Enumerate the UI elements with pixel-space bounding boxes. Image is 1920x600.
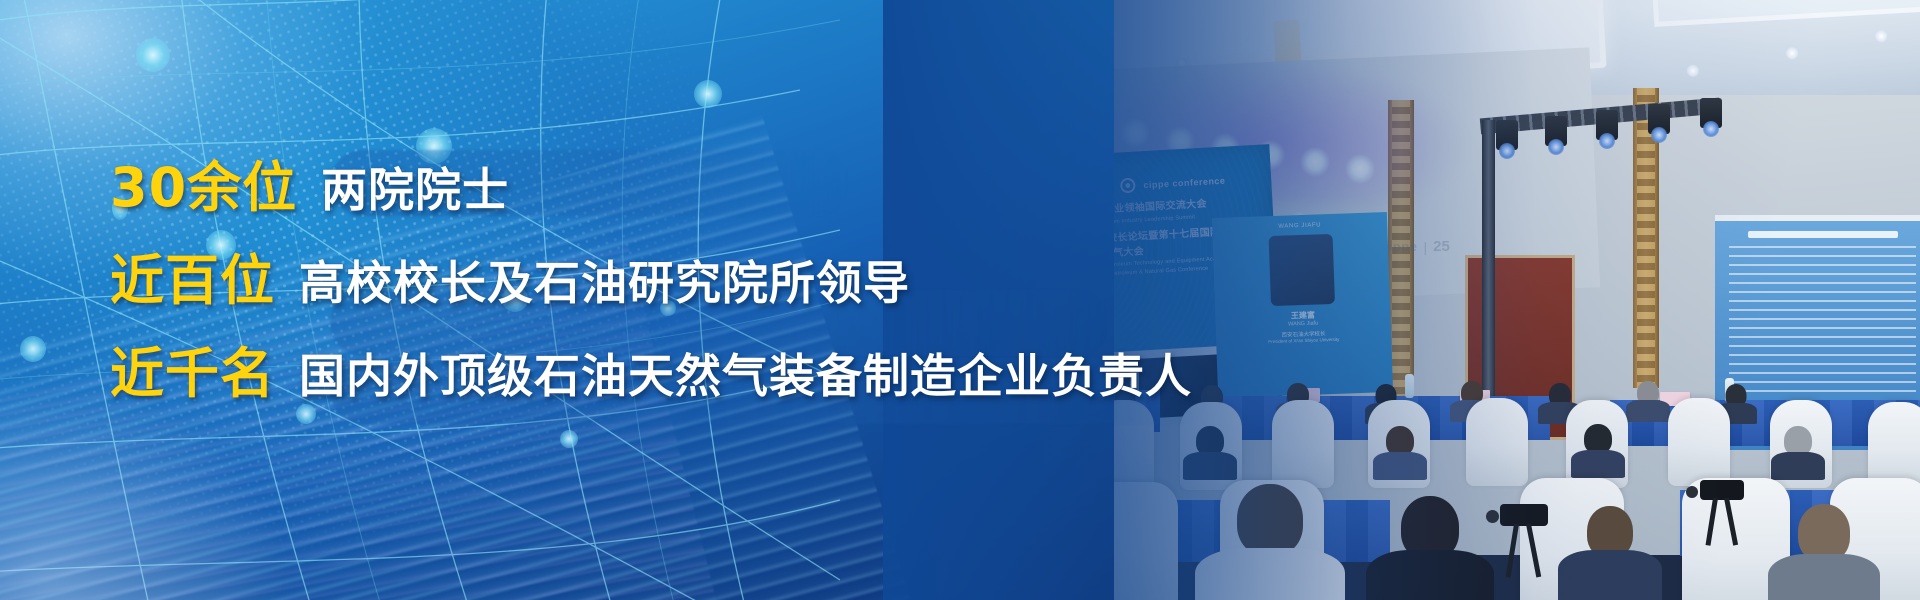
highlight-statistics: 30余位 两院院士 近百位 高校校长及石油研究院所领导 近千名 国内外顶级石油天… [110,143,1192,408]
bottom-left-glow [0,380,300,600]
highlight-description-2: 高校校长及石油研究院所领导 [299,247,910,313]
highlight-row-1: 30余位 两院院士 [110,143,1192,222]
network-node [694,80,722,108]
conference-banner: cippe | 25 [0,0,1920,600]
highlight-description-3: 国内外顶级石油天然气装备制造企业负责人 [299,340,1192,406]
highlight-description-1: 两院院士 [321,154,509,220]
highlight-count-1: 30余位 [110,143,297,222]
highlight-row-2: 近百位 高校校长及石油研究院所领导 [110,236,1192,315]
network-node [136,38,170,72]
highlight-count-2: 近百位 [110,236,275,315]
highlight-count-3: 近千名 [110,329,275,408]
highlight-row-3: 近千名 国内外顶级石油天然气装备制造企业负责人 [110,329,1192,408]
